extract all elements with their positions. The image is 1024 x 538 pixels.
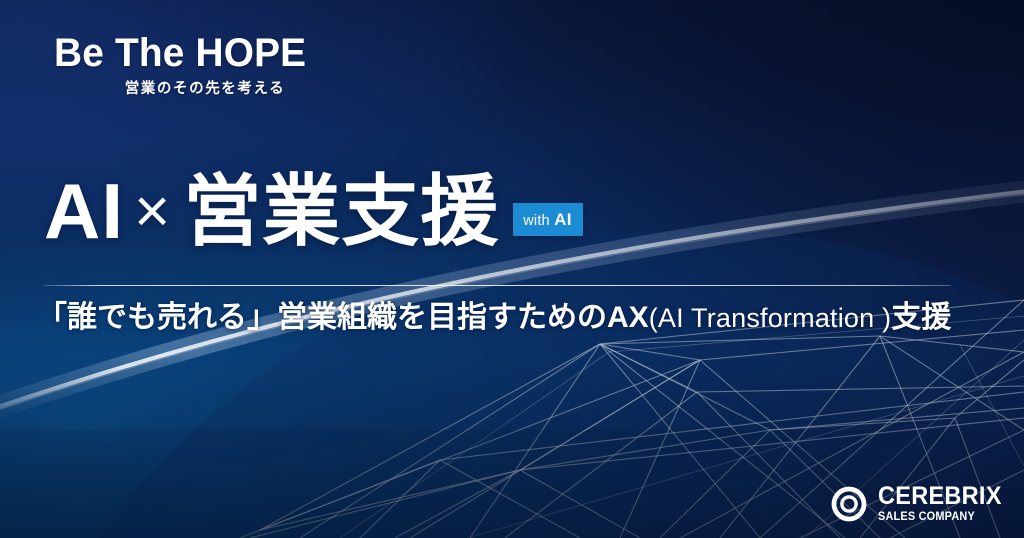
corporate-name: CEREBRIX <box>878 484 1002 509</box>
badge-ai-label: AI <box>554 210 572 229</box>
headline: AI×営業支援 <box>44 172 499 250</box>
corporate-subtitle: SALES COMPANY <box>878 512 1003 524</box>
brand-wordmark: Be The HOPE <box>54 33 306 73</box>
badge-with-label: with <box>523 213 550 229</box>
subtitle-latin: (AI Transformation ) <box>649 303 892 333</box>
subtitle-lead: 「誰でも売れる」営業組織を目指すためのAX <box>37 301 649 334</box>
brand-tagline: 営業のその先を考える <box>54 82 314 97</box>
headline-ai: AI <box>44 167 124 255</box>
cerebrix-mark-icon <box>829 484 869 524</box>
with-ai-badge: with AI <box>513 203 583 237</box>
subtitle: 「誰でも売れる」営業組織を目指すためのAX(AI Transformation … <box>37 299 951 337</box>
headline-row: AI×営業支援 with AI <box>44 172 583 250</box>
headline-divider <box>44 285 951 286</box>
hero-banner: Be The HOPE 営業のその先を考える AI×営業支援 with AI 「… <box>0 0 1024 538</box>
corporate-logo: CEREBRIX SALES COMPANY <box>829 484 1010 524</box>
corporate-logo-text: CEREBRIX SALES COMPANY <box>878 484 1010 524</box>
brand-logo: Be The HOPE 営業のその先を考える <box>54 33 314 97</box>
headline-multiply-icon: × <box>124 177 183 246</box>
headline-main: 営業支援 <box>183 167 499 255</box>
subtitle-tail: 支援 <box>891 301 951 334</box>
